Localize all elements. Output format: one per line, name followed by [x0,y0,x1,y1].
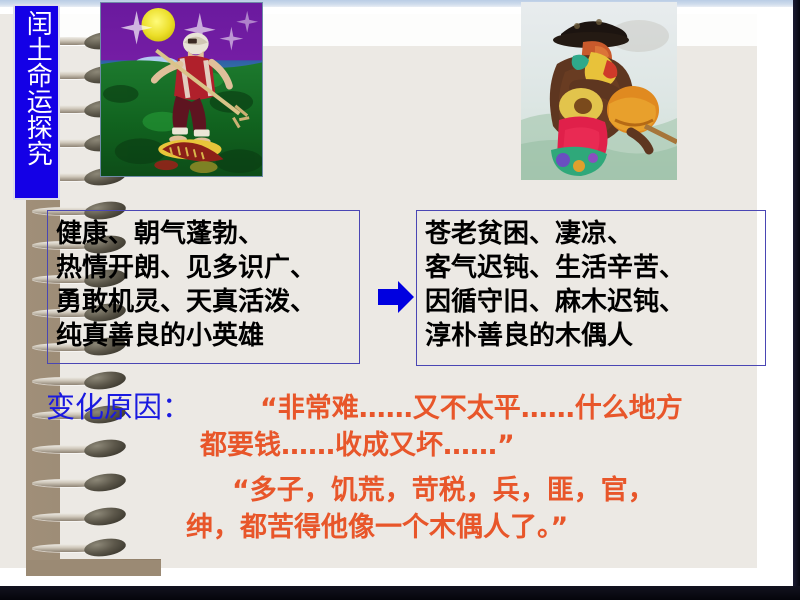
adult-trait-line: 淳朴善良的木偶人 [425,319,765,353]
quote-line: 都要钱……收成又坏……” [200,427,760,464]
youth-trait-line: 勇敢机灵、天真活泼、 [56,285,359,319]
bottom-edge-frame [0,586,800,600]
adult-trait-line: 苍老贫困、凄凉、 [425,217,765,251]
old-runtu-image [521,2,677,180]
young-runtu-image [100,2,263,177]
right-edge-frame [793,0,800,600]
adult-traits-box: 苍老贫困、凄凉、 客气迟钝、生活辛苦、 因循守旧、麻木迟钝、 淳朴善良的木偶人 [416,210,766,366]
page-title: 闰土命运探究 [25,10,49,166]
youth-trait-line: 纯真善良的小英雄 [56,319,359,353]
quote-line: “多子，饥荒，苛税，兵，匪，官， [178,472,778,509]
slide-title-banner: 闰土命运探究 [13,4,60,200]
slide-canvas: 闰土命运探究 [0,0,800,600]
adult-trait-line: 因循守旧、麻木迟钝、 [425,285,765,319]
youth-trait-line: 健康、朝气蓬勃、 [56,217,359,251]
youth-trait-line: 热情开朗、见多识广、 [56,251,359,285]
adult-trait-line: 客气迟钝、生活辛苦、 [425,251,765,285]
quote-line: “非常难……又不太平……什么地方 [200,390,760,427]
quote-block-two: “多子，饥荒，苛税，兵，匪，官， 绅，都苦得他像一个木偶人了。” [178,472,778,546]
youth-traits-box: 健康、朝气蓬勃、 热情开朗、见多识广、 勇敢机灵、天真活泼、 纯真善良的小英雄 [47,210,360,364]
quote-block-one: “非常难……又不太平……什么地方 都要钱……收成又坏……” [200,390,760,464]
quote-line: 绅，都苦得他像一个木偶人了。” [178,509,778,546]
reason-label: 变化原因： [46,390,191,424]
right-arrow-icon [378,281,414,313]
